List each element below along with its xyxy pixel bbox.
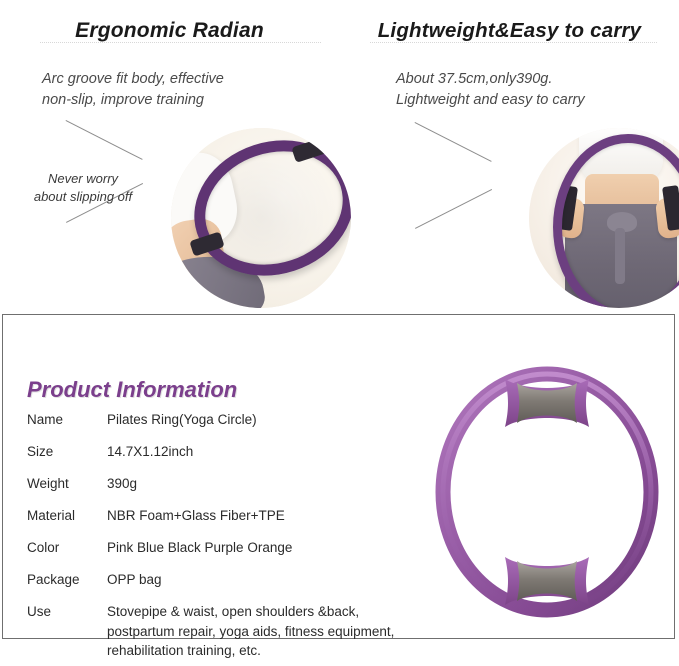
spec-value: Pilates Ring(Yoga Circle) — [107, 403, 457, 435]
table-row: Name Pilates Ring(Yoga Circle) — [27, 403, 457, 435]
feature-subtitle-left: Arc groove fit body, effective non-slip,… — [42, 69, 224, 111]
dotted-divider-left — [40, 42, 321, 44]
spec-key: Package — [27, 564, 107, 596]
spec-value: Pink Blue Black Purple Orange — [107, 532, 457, 564]
spec-value: NBR Foam+Glass Fiber+TPE — [107, 499, 457, 531]
product-ring-illustration — [427, 357, 667, 627]
feature-subtitle-right: About 37.5cm,only390g. Lightweight and e… — [396, 69, 585, 111]
product-information-box: Product Information Name Pilates Ring(Yo… — [2, 314, 675, 639]
table-row: Package OPP bag — [27, 564, 457, 596]
table-row: Size 14.7X1.12inch — [27, 435, 457, 467]
spec-key: Weight — [27, 467, 107, 499]
feature-panel-ergonomic-radian: Ergonomic Radian Arc groove fit body, ef… — [0, 0, 339, 312]
spec-value: 390g — [107, 467, 457, 499]
leader-line-right-lower — [415, 189, 492, 229]
feature-title-left: Ergonomic Radian — [0, 19, 339, 43]
spec-value: 14.7X1.12inch — [107, 435, 457, 467]
feature-title-right: Lightweight&Easy to carry — [340, 19, 679, 43]
leader-line-left-upper — [66, 120, 143, 160]
dotted-divider-right — [370, 42, 657, 44]
product-spec-table: Name Pilates Ring(Yoga Circle) Size 14.7… — [27, 403, 457, 666]
spec-key: Name — [27, 403, 107, 435]
feature-panel-lightweight-easy-to-carry: Lightweight&Easy to carry About 37.5cm,o… — [340, 0, 679, 312]
feature-row: Ergonomic Radian Arc groove fit body, ef… — [0, 0, 679, 312]
leader-line-right-upper — [415, 122, 492, 162]
spec-value: Stovepipe & waist, open shoulders &back,… — [107, 596, 457, 666]
pilates-ring-icon — [427, 357, 667, 627]
spec-value: OPP bag — [107, 564, 457, 596]
table-row: Color Pink Blue Black Purple Orange — [27, 532, 457, 564]
spec-key: Material — [27, 499, 107, 531]
table-row: Weight 390g — [27, 467, 457, 499]
feature-photo-left — [171, 128, 351, 308]
table-row: Use Stovepipe & waist, open shoulders &b… — [27, 596, 457, 666]
spec-key: Use — [27, 596, 107, 666]
feature-photo-right — [529, 128, 679, 308]
callout-left: Never worry about slipping off — [22, 170, 144, 206]
spec-key: Color — [27, 532, 107, 564]
spec-key: Size — [27, 435, 107, 467]
table-row: Material NBR Foam+Glass Fiber+TPE — [27, 499, 457, 531]
product-information-title: Product Information — [27, 377, 237, 403]
